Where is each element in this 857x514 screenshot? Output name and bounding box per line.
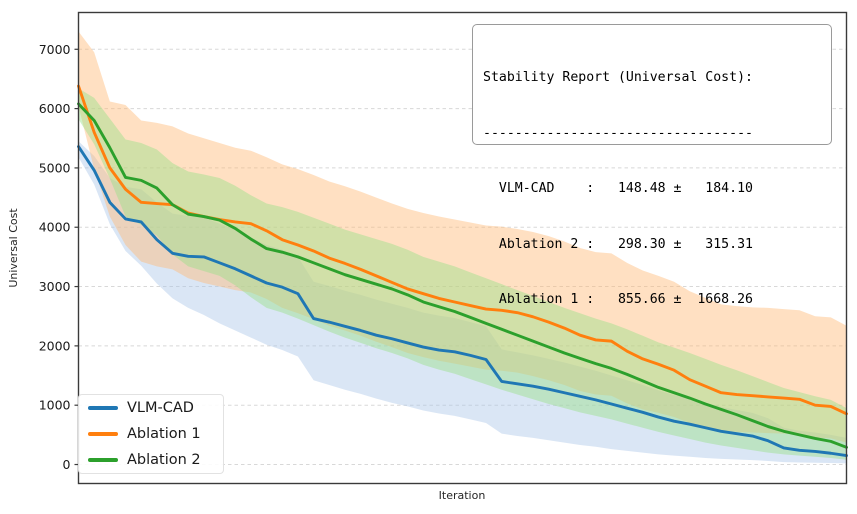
report-divider: ---------------------------------- (483, 125, 821, 144)
chart-legend: VLM-CAD Ablation 1 Ablation 2 (78, 394, 224, 474)
legend-item-ablation-1[interactable]: Ablation 1 (79, 421, 223, 447)
legend-label-ablation-1: Ablation 1 (127, 427, 201, 442)
legend-item-vlm-cad[interactable]: VLM-CAD (79, 395, 223, 421)
y-tick-label: 0 (63, 457, 71, 472)
legend-label-vlm-cad: VLM-CAD (127, 401, 194, 416)
y-tick-label: 6000 (39, 101, 71, 116)
y-tick-label: 7000 (39, 42, 71, 57)
legend-label-ablation-2: Ablation 2 (127, 453, 201, 468)
report-row-vlm-cad: VLM-CAD : 148.48 ± 184.10 (483, 180, 821, 199)
report-row-ablation-1: Ablation 1 : 855.66 ± 1668.26 (483, 291, 821, 310)
stability-report-box: Stability Report (Universal Cost): -----… (472, 24, 832, 145)
y-tick-label: 5000 (39, 160, 71, 175)
y-tick-label: 1000 (39, 398, 71, 413)
legend-swatch-ablation-1 (88, 432, 118, 436)
y-axis-label: Universal Cost (7, 208, 20, 288)
axis-ticks: 01000200030004000500060007000 (39, 42, 79, 472)
legend-swatch-vlm-cad (88, 406, 118, 410)
report-row-ablation-2: Ablation 2 : 298.30 ± 315.31 (483, 236, 821, 255)
legend-item-ablation-2[interactable]: Ablation 2 (79, 447, 223, 473)
y-tick-label: 3000 (39, 279, 71, 294)
y-tick-label: 4000 (39, 220, 71, 235)
report-title: Stability Report (Universal Cost): (483, 69, 821, 88)
chart-figure: 01000200030004000500060007000 Universal … (0, 0, 857, 514)
x-axis-label: Iteration (439, 489, 486, 502)
y-tick-label: 2000 (39, 338, 71, 353)
legend-swatch-ablation-2 (88, 458, 118, 462)
